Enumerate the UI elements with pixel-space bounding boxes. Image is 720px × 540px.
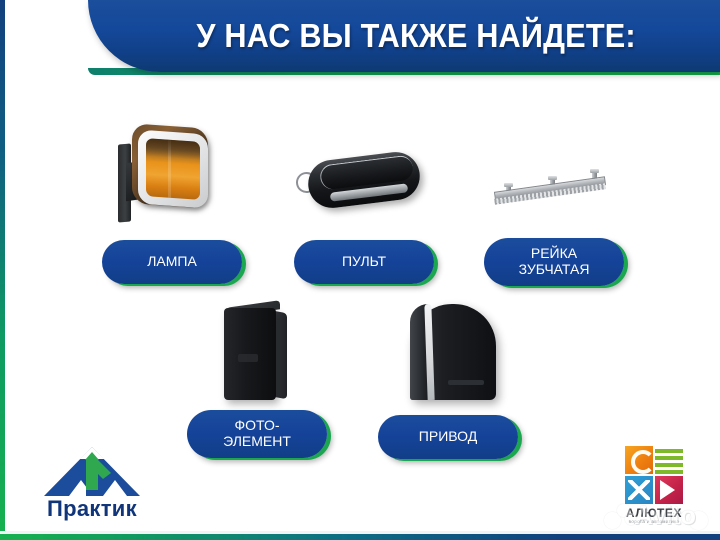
product-button-pult-label: ПУЛЬТ — [342, 254, 386, 270]
product-button-privod[interactable]: ПРИВОД — [378, 415, 518, 459]
drive-unit-image — [402, 298, 512, 408]
alutech-logo: АЛЮТЕХ ворота и автоматика — [615, 446, 693, 526]
product-button-reyka-label-line1: РЕЙКА — [531, 246, 577, 262]
product-button-fotoelement-label-line1: ФОТО- — [234, 418, 279, 434]
slide-root: У НАС ВЫ ТАКЖЕ НАЙДЕТЕ: ЛАМПА ПУЛЬТ РЕЙК… — [0, 0, 720, 540]
alutech-tile-green — [655, 446, 683, 474]
alutech-tile-blue — [625, 476, 653, 504]
product-button-reyka-zubchataya[interactable]: РЕЙКА ЗУБЧАТАЯ — [484, 238, 624, 286]
product-button-lampa[interactable]: ЛАМПА — [102, 240, 242, 284]
product-button-fotoelement-label-line2: ЭЛЕМЕНТ — [223, 434, 291, 450]
lamp-amber-lens — [146, 138, 200, 200]
praktik-logo: Практик — [33, 446, 151, 524]
alutech-tile-orange — [625, 446, 653, 474]
alutech-logo-text: АЛЮТЕХ — [615, 506, 693, 520]
praktik-logo-text: Практик — [33, 496, 151, 522]
alutech-logo-subtext: ворота и автоматика — [615, 519, 693, 524]
header-banner: У НАС ВЫ ТАКЖЕ НАЙДЕТЕ: — [88, 0, 720, 78]
remote-control-image — [296, 148, 428, 214]
product-button-pult[interactable]: ПУЛЬТ — [294, 240, 434, 284]
signal-lamp-image — [108, 118, 228, 230]
product-button-reyka-label-line2: ЗУБЧАТАЯ — [519, 262, 590, 278]
product-button-lampa-label: ЛАМПА — [147, 254, 197, 270]
product-button-fotoelement[interactable]: ФОТО- ЭЛЕМЕНТ — [187, 410, 327, 458]
praktik-triangle-icon — [33, 446, 151, 498]
drive-vent-slot — [448, 380, 484, 385]
alutech-tiles — [625, 446, 683, 504]
product-button-privod-label: ПРИВОД — [419, 429, 477, 445]
left-border-stripe — [0, 0, 5, 540]
photocell-lens — [238, 354, 258, 362]
alutech-tile-red — [655, 476, 683, 504]
photocell-image — [216, 302, 306, 408]
gear-rack-image — [488, 160, 616, 212]
page-title: У НАС ВЫ ТАКЖЕ НАЙДЕТЕ: — [110, 0, 698, 72]
bottom-border-stripe — [0, 534, 720, 540]
